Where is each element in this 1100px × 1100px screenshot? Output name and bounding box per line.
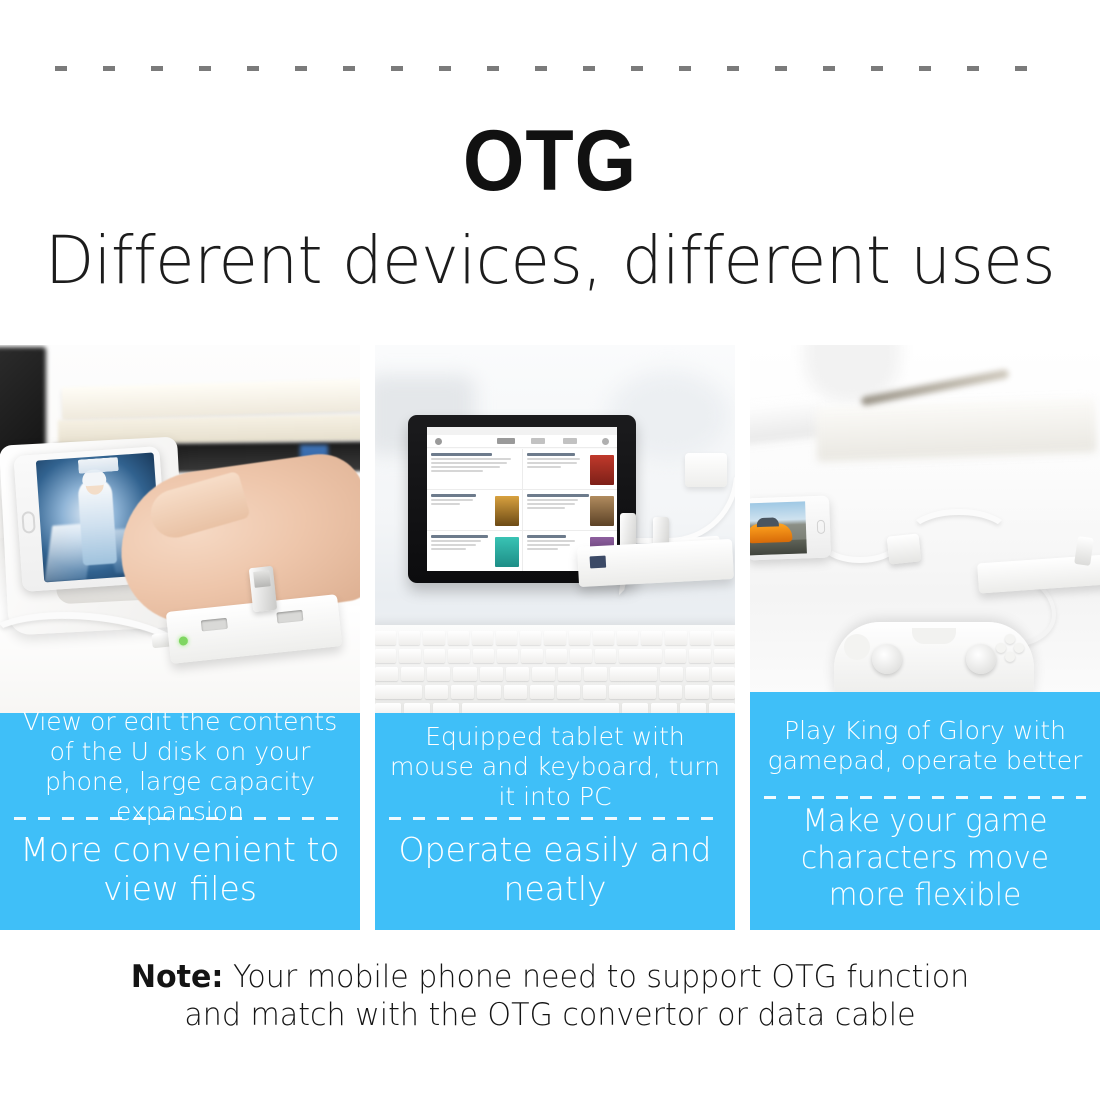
- photo2-card-thumbnail: [495, 537, 519, 567]
- photo1-dark-object: [0, 347, 46, 459]
- photo3-gamepad: [834, 622, 1034, 692]
- panel-u-disk-caption-divider: [14, 817, 346, 820]
- photo2-screen-card: [427, 531, 522, 571]
- panel-u-disk-photo: [0, 345, 360, 713]
- panel-gamepad: Play King of Glory with gamepad, operate…: [750, 345, 1100, 930]
- panel-tablet-pc: Equipped tablet with mouse and keyboard,…: [375, 345, 735, 930]
- photo2-usb-hub: [577, 539, 734, 587]
- photo3-gamepad-dpad: [844, 634, 870, 660]
- photo3-smartphone: [750, 496, 831, 561]
- photo3-notebook: [815, 398, 1097, 462]
- panel-tablet-pc-caption: Equipped tablet with mouse and keyboard,…: [375, 713, 735, 930]
- panel-gamepad-caption-top: Play King of Glory with gamepad, operate…: [758, 698, 1092, 794]
- panel-gamepad-caption: Play King of Glory with gamepad, operate…: [750, 692, 1100, 930]
- panel-u-disk-caption-top: View or edit the contents of the U disk …: [8, 719, 352, 815]
- photo2-screen-card: [523, 490, 618, 530]
- panel-tablet-pc-caption-top: Equipped tablet with mouse and keyboard,…: [383, 719, 727, 815]
- photo1-usb-hub-led: [178, 636, 188, 646]
- panel-tablet-pc-caption-divider: [389, 817, 721, 820]
- photo3-phone-screen: [750, 501, 807, 555]
- panel-u-disk-caption: View or edit the contents of the U disk …: [0, 713, 360, 930]
- photo1-usb-port-1: [201, 618, 228, 632]
- footer-note: Note: Your mobile phone need to support …: [17, 958, 1084, 1034]
- photo2-screen-card: [427, 490, 522, 530]
- panel-gamepad-caption-divider: [764, 796, 1086, 799]
- photo3-gamepad-buttons: [996, 634, 1024, 660]
- panel-tablet-pc-caption-bottom: Operate easily and neatly: [383, 824, 727, 920]
- photo3-gamepad-stick-left: [872, 644, 902, 674]
- photo2-screen-card: [523, 449, 618, 489]
- page-subtitle: Different devices, different uses: [17, 222, 1084, 300]
- photo2-screen-tab-2: [531, 438, 545, 444]
- photo2-screen-account-icon: [435, 438, 442, 445]
- photo3-otg-adapter: [887, 533, 922, 564]
- photo3-gamepad-stick-right: [966, 644, 996, 674]
- photo3-screen-race-car: [750, 523, 792, 544]
- page-title: OTG: [44, 118, 1056, 204]
- footer-note-label: Note:: [131, 959, 224, 995]
- panel-gamepad-caption-bottom: Make your game characters move more flex…: [766, 803, 1083, 920]
- photo3-phone-home-button: [817, 520, 825, 534]
- photo2-card-thumbnail: [590, 496, 614, 526]
- top-dashed-divider: [55, 66, 1045, 71]
- photo1-usb-flash-drive: [249, 566, 277, 612]
- photo2-screen-tab-1: [497, 438, 515, 444]
- photo2-card-thumbnail: [590, 455, 614, 485]
- panel-tablet-pc-photo: [375, 345, 735, 713]
- panel-u-disk: View or edit the contents of the U disk …: [0, 345, 360, 930]
- photo2-screen-search-icon: [602, 438, 609, 445]
- photo2-usb-hub-logo: [590, 556, 607, 569]
- photo1-screen-game-title: [78, 457, 119, 474]
- photo1-phone-home-button: [21, 511, 36, 534]
- photo1-usb-port-2: [276, 610, 303, 624]
- photo2-screen-status-bar: [427, 427, 617, 435]
- photo2-keyboard: [375, 625, 735, 713]
- photo2-screen-card: [427, 449, 522, 489]
- panel-gamepad-photo: [750, 345, 1100, 692]
- photo2-card-thumbnail: [495, 496, 519, 526]
- panel-u-disk-caption-bottom: More convenient to view files: [8, 824, 352, 920]
- photo3-cable-middle: [905, 509, 1013, 565]
- feature-panels: View or edit the contents of the U disk …: [0, 345, 1100, 930]
- photo2-screen-tab-3: [563, 438, 577, 444]
- footer-note-text: Your mobile phone need to support OTG fu…: [184, 959, 969, 1033]
- photo2-screen-nav-bar: [427, 435, 617, 448]
- photo3-gamepad-notch: [912, 628, 956, 644]
